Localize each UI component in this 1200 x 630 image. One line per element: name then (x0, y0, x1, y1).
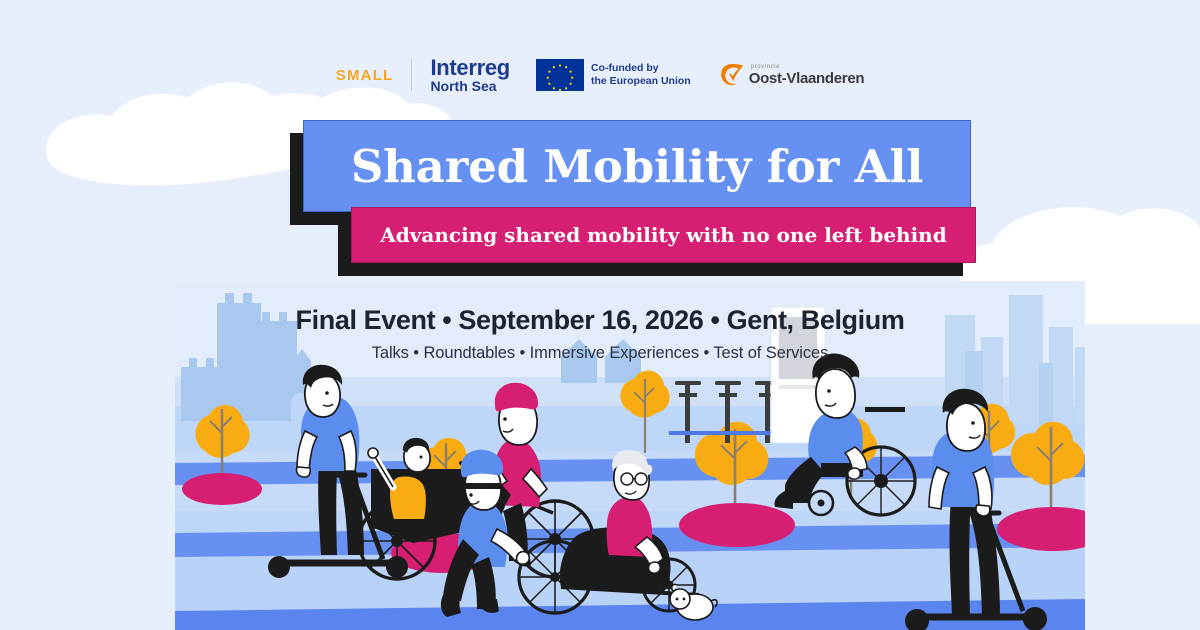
logo-divider (411, 59, 412, 91)
oost-vlaanderen-text: provincie Oost-Vlaanderen (749, 64, 865, 86)
main-title-block: Shared Mobility for All (303, 120, 971, 212)
eu-funding-text: Co-funded by the European Union (591, 62, 691, 88)
logo-strip: SMALL Interreg North Sea (0, 52, 1200, 98)
wheelchair-user-head (816, 369, 855, 418)
logo-oost-vlaanderen: provincie Oost-Vlaanderen (719, 61, 865, 89)
eu-funding-line-1: Co-funded by (591, 62, 691, 75)
logo-interreg-north-sea: Interreg North Sea (430, 57, 510, 94)
interreg-programme-name: North Sea (430, 79, 510, 93)
eu-flag-icon (536, 59, 584, 91)
subtitle-block: Advancing shared mobility with no one le… (351, 207, 976, 263)
event-program: Talks • Roundtables • Immersive Experien… (0, 344, 1200, 363)
logo-eu-cofunded: Co-funded by the European Union (536, 59, 691, 91)
eu-funding-line-2: the European Union (591, 75, 691, 88)
event-details: Final Event • September 16, 2026 • Gent,… (0, 305, 1200, 363)
main-title-text: Shared Mobility for All (351, 140, 923, 193)
event-headline: Final Event • September 16, 2026 • Gent,… (0, 305, 1200, 336)
subtitle-text: Advancing shared mobility with no one le… (380, 223, 946, 247)
oost-vlaanderen-name: Oost-Vlaanderen (749, 71, 865, 86)
oost-vlaanderen-mark-icon (719, 61, 745, 89)
wheelchair-handle (865, 407, 905, 412)
event-banner: SMALL Interreg North Sea (0, 0, 1200, 630)
scooter-dock-station (669, 381, 787, 443)
mound-1 (182, 473, 262, 505)
logo-small-project: SMALL (336, 67, 394, 84)
interreg-wordmark: Interreg (430, 57, 510, 79)
mound-3 (679, 503, 795, 547)
